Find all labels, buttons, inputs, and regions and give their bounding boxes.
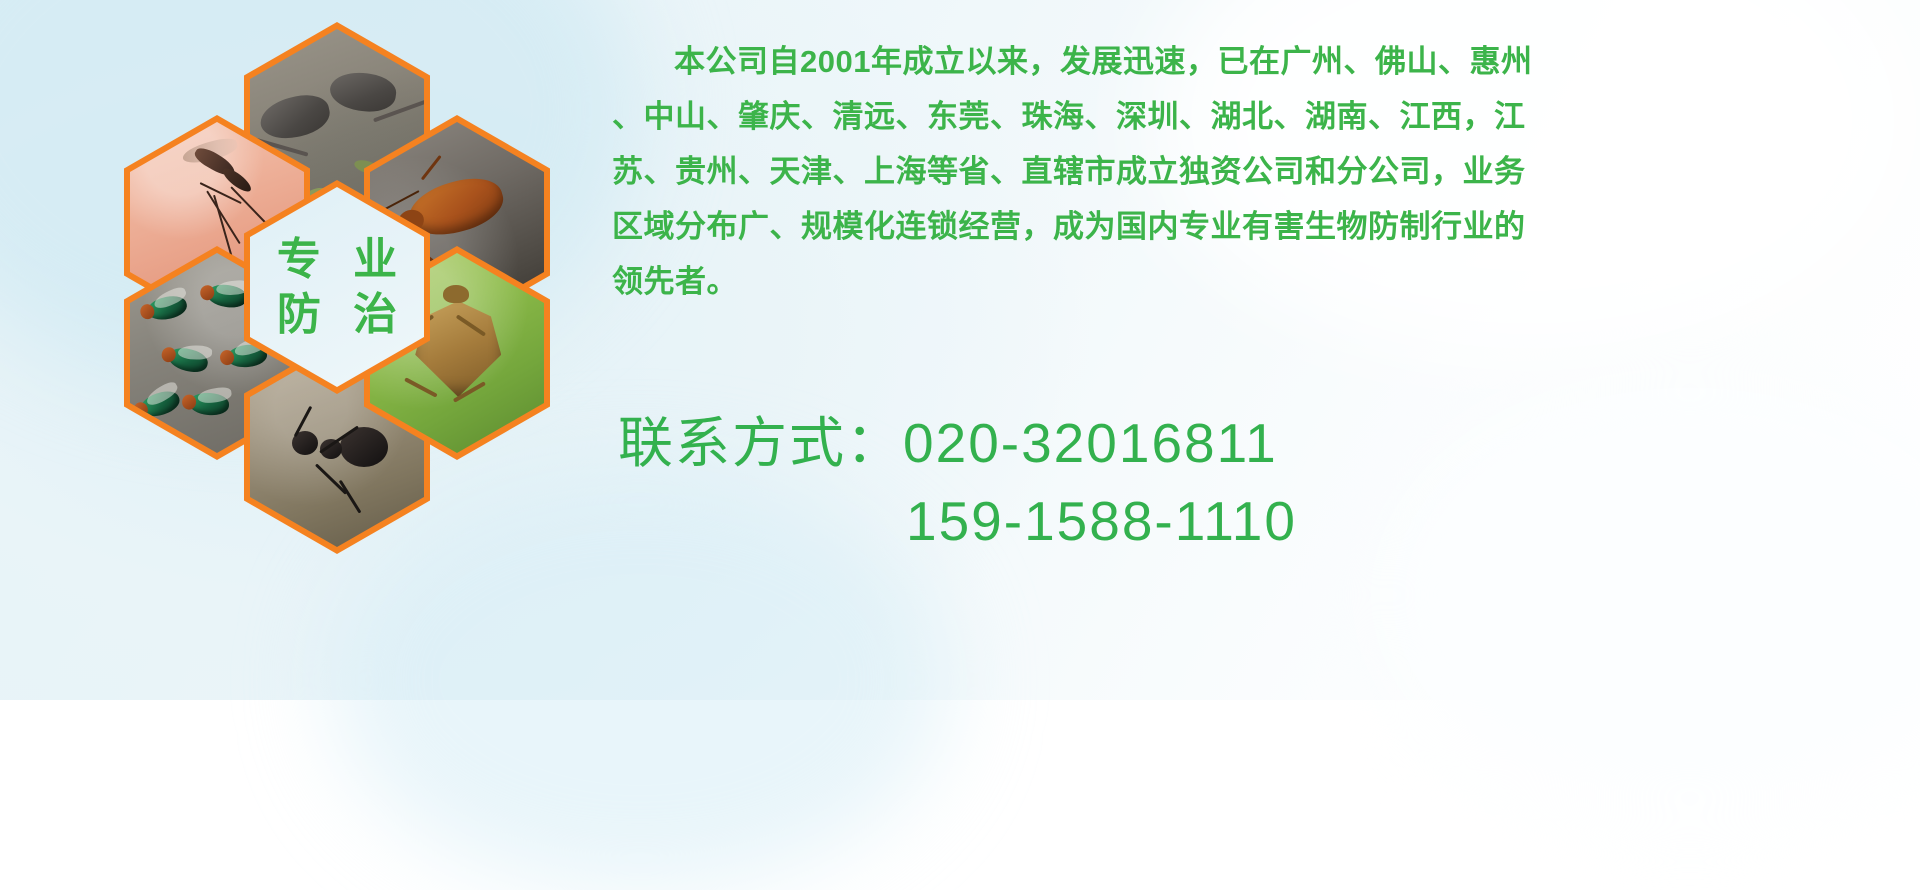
contact-label: 联系方式： [618, 412, 903, 474]
company-intro-paragraph: 本公司自2001年成立以来，发展迅速，已在广州、佛山、惠州 、中山、肇庆、清远、… [612, 34, 1898, 309]
intro-line-5: 领先者。 [612, 254, 1898, 309]
intro-line-4: 区域分布广、规模化连锁经营，成为国内专业有害生物防制行业的 [612, 199, 1898, 254]
slogan-line-2: 防 治 [267, 287, 407, 342]
phone-landline[interactable]: 020-32016811 [903, 412, 1278, 474]
phone-mobile[interactable]: 159-1588-1110 [906, 490, 1297, 552]
intro-line-1: 本公司自2001年成立以来，发展迅速，已在广州、佛山、惠州 [612, 34, 1898, 89]
intro-line-3: 苏、贵州、天津、上海等省、直辖市成立独资公司和分公司，业务 [612, 144, 1898, 199]
promo-banner: 专 业 防 治 本公司自2001年成立以来，发展迅速，已在广州、佛山、惠州 、中… [0, 0, 1920, 700]
contact-landline-line: 联系方式：020-32016811 [618, 404, 1908, 482]
intro-line-2: 、中山、肇庆、清远、东莞、珠海、深圳、湖北、湖南、江西，江 [612, 89, 1898, 144]
contact-mobile-line: 159-1588-1110 [618, 482, 1908, 560]
pest-photo-hex-cluster: 专 业 防 治 [86, 10, 586, 570]
contact-block: 联系方式：020-32016811 159-1588-1110 [618, 404, 1908, 560]
slogan-line-1: 专 业 [267, 232, 407, 287]
